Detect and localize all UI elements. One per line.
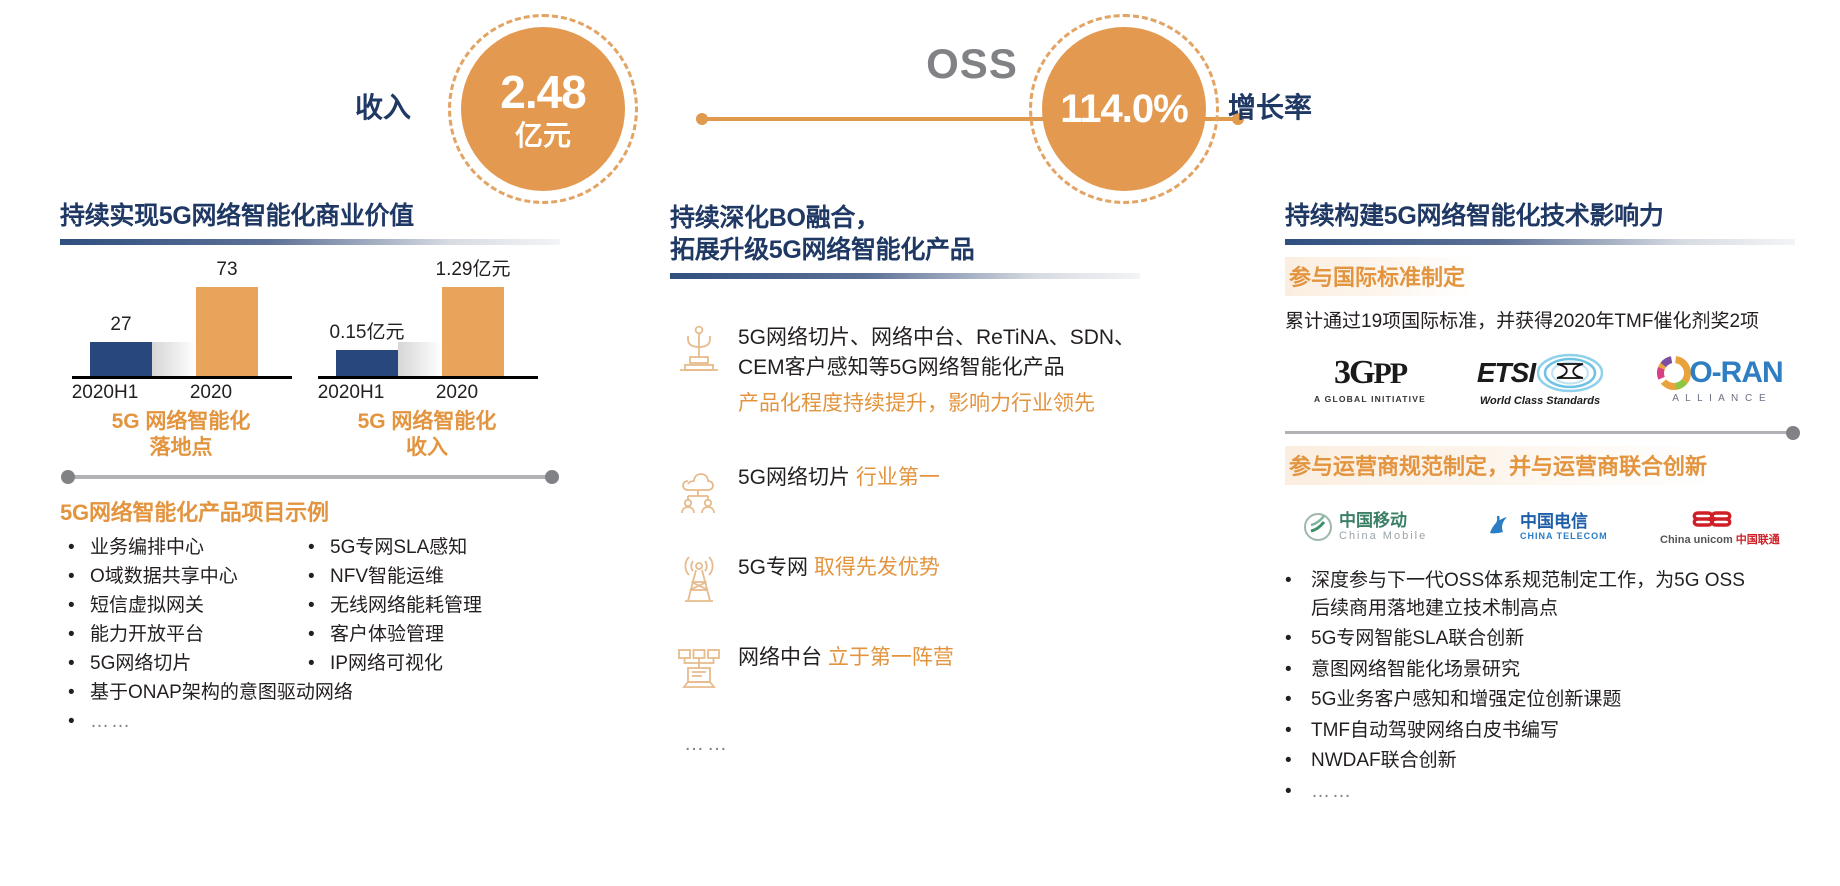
china-unicom-mark bbox=[1686, 508, 1742, 532]
cloud-users-icon bbox=[670, 461, 728, 519]
list-item-label: O域数据共享中心 bbox=[90, 564, 298, 591]
bullet-dot: • bbox=[68, 564, 90, 591]
x-tick: 2020 bbox=[410, 382, 504, 404]
mid-item-accent: 取得先发优势 bbox=[814, 556, 940, 579]
mid-item-text: 5G专网 取得先发优势 bbox=[738, 551, 1140, 583]
china-unicom-cn: 中国联通 bbox=[1736, 531, 1780, 547]
mid-item-network-midplatform: 网络中台 立于第一阵营 bbox=[670, 641, 1140, 699]
list-item-label: 5G专网SLA感知 bbox=[330, 535, 548, 562]
etsi-logo: ETSI World Class Standards bbox=[1445, 343, 1635, 417]
section-divider bbox=[66, 475, 554, 479]
list-item: •TMF自动驾驶网络白皮书编写 bbox=[1285, 717, 1795, 745]
bullet-dot: • bbox=[68, 535, 90, 562]
list-item-label: 短信虚拟网关 bbox=[90, 593, 298, 620]
list-item-label: NFV智能运维 bbox=[330, 564, 548, 591]
bar-rect bbox=[442, 287, 504, 376]
china-telecom-mark bbox=[1485, 512, 1515, 542]
mid-item-text: 网络中台 立于第一阵营 bbox=[738, 641, 1140, 673]
bar-rect bbox=[90, 342, 152, 376]
list-item-label: 深度参与下一代OSS体系规范制定工作，为5G OSS 后续商用落地建立技术制高点 bbox=[1311, 567, 1795, 622]
mid-item-private-network: 5G专网 取得先发优势 bbox=[670, 551, 1140, 609]
mid-items-list: 5G网络切片、网络中台、ReTiNA、SDN、 CEM客户感知等5G网络智能化产… bbox=[670, 321, 1140, 741]
3gpp-logo-tagline: A GLOBAL INITIATIVE bbox=[1314, 394, 1426, 404]
bullet-dot: • bbox=[68, 651, 90, 678]
china-mobile-mark bbox=[1303, 512, 1333, 542]
bar-value-label: 73 bbox=[180, 259, 274, 281]
mid-item-accent: 立于第一阵营 bbox=[828, 646, 954, 669]
bullet-dot: • bbox=[1285, 625, 1311, 653]
x-tick-labels: 2020H1 2020 bbox=[66, 379, 296, 407]
bar-chart-revenue: 0.15亿元 1.29亿元 2020H1 2020 5G 网络智能化 收入 bbox=[312, 259, 542, 459]
list-item: •…… bbox=[1285, 778, 1795, 806]
x-tick: 2020H1 bbox=[58, 382, 152, 404]
mid-item-main: 5G专网 取得先发优势 bbox=[738, 553, 1140, 583]
operator-logo-row: 中国移动 China Mobile 中国电信 CHINA TELECOM bbox=[1285, 499, 1795, 555]
kpi-label-revenue: 收入 bbox=[355, 86, 411, 126]
bar-chart-landing-points: 27 73 2020H1 2020 5G 网络智能化 落地点 bbox=[66, 259, 296, 459]
china-unicom-en: China unicom bbox=[1660, 535, 1733, 547]
mid-item-products: 5G网络切片、网络中台、ReTiNA、SDN、 CEM客户感知等5G网络智能化产… bbox=[670, 321, 1140, 417]
list-item: •基于ONAP架构的意图驱动网络 bbox=[68, 680, 538, 707]
list-item-label: 意图网络智能化场景研究 bbox=[1311, 656, 1795, 684]
bar-rect bbox=[336, 350, 398, 376]
3gpp-logo-primary: 3G bbox=[1334, 354, 1373, 391]
slide-canvas: OSS 2.48 亿元 收入 114.0% 增长率 持续实现5G网络智能化商业价… bbox=[0, 0, 1840, 886]
list-item-label: IP网络可视化 bbox=[330, 651, 548, 678]
bullet-dot: • bbox=[308, 593, 330, 620]
china-telecom-cn: 中国电信 bbox=[1520, 513, 1608, 531]
china-unicom-logo: China unicom 中国联通 bbox=[1660, 499, 1780, 555]
list-item: •业务编排中心 bbox=[68, 535, 298, 562]
network-hub-icon bbox=[670, 641, 728, 699]
list-item-label: 能力开放平台 bbox=[90, 622, 298, 649]
bullet-dot: • bbox=[1285, 686, 1311, 714]
section-divider bbox=[1285, 431, 1795, 434]
bar-charts-group: 27 73 2020H1 2020 5G 网络智能化 落地点 bbox=[60, 259, 560, 459]
china-mobile-en: China Mobile bbox=[1339, 530, 1427, 542]
list-item-label: NWDAF联合创新 bbox=[1311, 747, 1795, 775]
china-telecom-logo: 中国电信 CHINA TELECOM bbox=[1485, 499, 1608, 555]
examples-column-b: •5G专网SLA感知 •NFV智能运维 •无线网络能耗管理 •客户体验管理 •I… bbox=[308, 535, 548, 680]
mid-item-label: 5G网络切片 bbox=[738, 466, 850, 489]
kpi-disc: 2.48 亿元 bbox=[461, 27, 625, 191]
title-underline bbox=[1285, 239, 1795, 245]
standards-heading: 参与国际标准制定 bbox=[1285, 257, 1473, 296]
mid-item-label: 网络中台 bbox=[738, 646, 822, 669]
bullet-dot: • bbox=[1285, 656, 1311, 684]
kpi-unit-revenue: 亿元 bbox=[515, 122, 571, 150]
antenna-icon bbox=[670, 551, 728, 609]
list-item: •无线网络能耗管理 bbox=[308, 593, 548, 620]
bullet-dot: • bbox=[308, 651, 330, 678]
china-mobile-logo: 中国移动 China Mobile bbox=[1303, 499, 1427, 555]
3gpp-logo-suffix: PP bbox=[1373, 357, 1406, 390]
list-item-label: 客户体验管理 bbox=[330, 622, 548, 649]
bullet-dot: • bbox=[1285, 567, 1311, 595]
list-item: •5G网络切片 bbox=[68, 651, 298, 678]
bar-shadow bbox=[152, 342, 196, 376]
list-item: •IP网络可视化 bbox=[308, 651, 548, 678]
kpi-label-growth: 增长率 bbox=[1228, 86, 1312, 126]
o-ran-alliance-logo: O-RAN A L L I A N C E bbox=[1635, 343, 1805, 417]
standards-logo-row: 3GPP A GLOBAL INITIATIVE ETSI bbox=[1285, 343, 1795, 417]
list-item: •NWDAF联合创新 bbox=[1285, 747, 1795, 775]
x-tick-labels: 2020H1 2020 bbox=[312, 379, 542, 407]
mid-item-main: 5G网络切片 行业第一 bbox=[738, 463, 1140, 493]
bullet-dot: • bbox=[68, 680, 90, 707]
plot-area: 0.15亿元 1.29亿元 bbox=[312, 259, 542, 379]
list-item: •深度参与下一代OSS体系规范制定工作，为5G OSS 后续商用落地建立技术制高… bbox=[1285, 567, 1795, 622]
kpi-band: OSS 2.48 亿元 收入 114.0% 增长率 bbox=[0, 0, 1840, 200]
left-column-title: 持续实现5G网络智能化商业价值 bbox=[60, 200, 560, 232]
bullet-dot: • bbox=[308, 622, 330, 649]
bullet-dot: • bbox=[68, 709, 90, 736]
right-column-title: 持续构建5G网络智能化技术影响力 bbox=[1285, 200, 1795, 232]
bullet-dot: • bbox=[308, 535, 330, 562]
kpi-disc: 114.0% bbox=[1042, 27, 1206, 191]
list-item: •能力开放平台 bbox=[68, 622, 298, 649]
mid-ellipsis: …… bbox=[684, 733, 730, 756]
examples-heading: 5G网络智能化产品项目示例 bbox=[60, 495, 560, 527]
chart-caption: 5G 网络智能化 落地点 bbox=[66, 409, 296, 462]
list-item: •5G专网智能SLA联合创新 bbox=[1285, 625, 1795, 653]
bar-value-label: 1.29亿元 bbox=[426, 254, 520, 281]
etsi-logo-primary: ETSI bbox=[1477, 357, 1535, 389]
x-tick: 2020H1 bbox=[304, 382, 398, 404]
column-bo-convergence: 持续深化BO融合， 拓展升级5G网络智能化产品 bbox=[670, 202, 1140, 741]
china-telecom-en: CHINA TELECOM bbox=[1520, 531, 1608, 541]
mid-item-label: 5G专网 bbox=[738, 556, 808, 579]
list-item: •意图网络智能化场景研究 bbox=[1285, 656, 1795, 684]
mid-item-text: 5G网络切片、网络中台、ReTiNA、SDN、 CEM客户感知等5G网络智能化产… bbox=[738, 321, 1140, 417]
china-mobile-cn: 中国移动 bbox=[1339, 512, 1427, 530]
mid-item-text: 5G网络切片 行业第一 bbox=[738, 461, 1140, 493]
bar-value-label: 27 bbox=[74, 314, 168, 336]
examples-bullet-grid: •业务编排中心 •O域数据共享中心 •短信虚拟网关 •能力开放平台 •5G网络切… bbox=[60, 535, 560, 715]
bullet-dot: • bbox=[68, 593, 90, 620]
plot-area: 27 73 bbox=[66, 259, 296, 379]
list-item-label: 基于ONAP架构的意图驱动网络 bbox=[90, 680, 538, 707]
list-item: •O域数据共享中心 bbox=[68, 564, 298, 591]
kpi-value-revenue: 2.48 bbox=[500, 69, 586, 115]
list-item-label: 业务编排中心 bbox=[90, 535, 298, 562]
list-item-label: …… bbox=[90, 709, 298, 736]
x-tick: 2020 bbox=[164, 382, 258, 404]
list-item: •短信虚拟网关 bbox=[68, 593, 298, 620]
operators-heading: 参与运营商规范制定，并与运营商联合创新 bbox=[1285, 446, 1715, 485]
column-business-value: 持续实现5G网络智能化商业价值 27 73 bbox=[60, 200, 560, 715]
mid-item-main: 网络中台 立于第一阵营 bbox=[738, 643, 1140, 673]
o-ran-logo-mark bbox=[1657, 356, 1691, 390]
column-tech-influence: 持续构建5G网络智能化技术影响力 参与国际标准制定 累计通过19项国际标准，并获… bbox=[1285, 200, 1795, 808]
o-ran-logo-primary: O-RAN bbox=[1689, 356, 1782, 390]
innovation-bullet-list: •深度参与下一代OSS体系规范制定工作，为5G OSS 后续商用落地建立技术制高… bbox=[1285, 567, 1795, 805]
list-item-label: …… bbox=[1311, 778, 1795, 806]
list-item-label: TMF自动驾驶网络白皮书编写 bbox=[1311, 717, 1795, 745]
mid-column-title: 持续深化BO融合， 拓展升级5G网络智能化产品 bbox=[670, 202, 1140, 266]
examples-column-a: •业务编排中心 •O域数据共享中心 •短信虚拟网关 •能力开放平台 •5G网络切… bbox=[68, 535, 298, 738]
chart-caption: 5G 网络智能化 收入 bbox=[312, 409, 542, 462]
mid-item-main: 5G网络切片、网络中台、ReTiNA、SDN、 CEM客户感知等5G网络智能化产… bbox=[738, 323, 1140, 383]
list-item-label: 5G专网智能SLA联合创新 bbox=[1311, 625, 1795, 653]
etsi-logo-tagline: World Class Standards bbox=[1477, 395, 1603, 407]
standards-note: 累计通过19项国际标准，并获得2020年TMF催化剂奖2项 bbox=[1285, 306, 1795, 333]
list-item: •客户体验管理 bbox=[308, 622, 548, 649]
list-item-label: 5G网络切片 bbox=[90, 651, 298, 678]
list-item: •…… bbox=[68, 709, 298, 736]
kpi-value-growth: 114.0% bbox=[1060, 89, 1187, 129]
etsi-logo-mark bbox=[1537, 353, 1603, 393]
list-item: •NFV智能运维 bbox=[308, 564, 548, 591]
bar-shadow bbox=[398, 342, 442, 376]
bullet-dot: • bbox=[1285, 778, 1311, 806]
bullet-dot: • bbox=[308, 564, 330, 591]
mid-item-sub: 产品化程度持续提升，影响力行业领先 bbox=[738, 387, 1140, 417]
trophy-icon bbox=[670, 321, 728, 379]
bar-value-label: 0.15亿元 bbox=[320, 317, 414, 344]
list-item: •5G业务客户感知和增强定位创新课题 bbox=[1285, 686, 1795, 714]
title-underline bbox=[670, 273, 1140, 279]
mid-item-accent: 行业第一 bbox=[856, 466, 940, 489]
bullet-dot: • bbox=[68, 622, 90, 649]
title-underline bbox=[60, 239, 560, 245]
bullet-dot: • bbox=[1285, 747, 1311, 775]
list-item-label: 无线网络能耗管理 bbox=[330, 593, 548, 620]
mid-item-network-slicing: 5G网络切片 行业第一 bbox=[670, 461, 1140, 519]
list-item: •5G专网SLA感知 bbox=[308, 535, 548, 562]
o-ran-logo-tagline: A L L I A N C E bbox=[1657, 393, 1782, 404]
bar-rect bbox=[196, 287, 258, 376]
list-item-label: 5G业务客户感知和增强定位创新课题 bbox=[1311, 686, 1795, 714]
3gpp-logo: 3GPP A GLOBAL INITIATIVE bbox=[1295, 343, 1445, 417]
bullet-dot: • bbox=[1285, 717, 1311, 745]
